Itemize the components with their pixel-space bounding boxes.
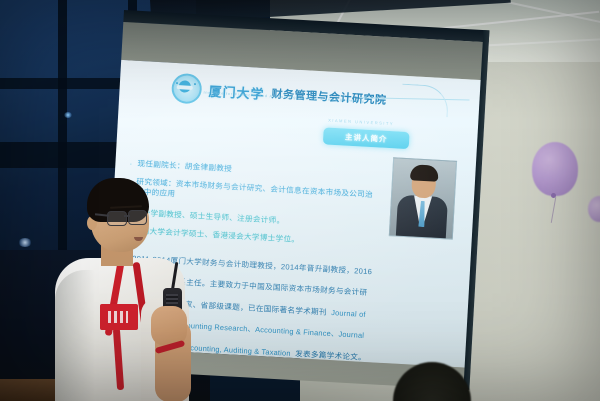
- glasses-bridge: [124, 215, 130, 217]
- ceiling-grid-line: [470, 35, 600, 47]
- purple-balloon: [532, 142, 578, 196]
- university-emblem-icon: [171, 73, 203, 105]
- speaker-portrait: [389, 157, 457, 239]
- photo-scene: 厦门大学 财务管理与会计研究院 Institute for Financial …: [0, 0, 600, 401]
- presenter-shoulder-shadow: [55, 270, 95, 401]
- slide-title-chip-label: 主讲人简介: [345, 132, 388, 145]
- walkie-talkie-speaker-grill: [166, 294, 178, 304]
- glasses-icon: [107, 211, 127, 226]
- window-light-reflection: [18, 238, 32, 247]
- chip-note: XIAMEN UNIVERSITY: [328, 118, 394, 127]
- bullet-text: 现任副院长：胡金律副教授: [137, 159, 232, 175]
- glasses-icon: [128, 210, 147, 225]
- presenter-event-badge: [100, 304, 138, 330]
- header-swoosh-decoration: [401, 84, 450, 118]
- slide-title-chip: 主讲人简介: [323, 127, 410, 149]
- bullet-dot-icon: ·: [129, 159, 133, 170]
- presenter: [55, 178, 200, 401]
- window-light-reflection: [64, 112, 72, 118]
